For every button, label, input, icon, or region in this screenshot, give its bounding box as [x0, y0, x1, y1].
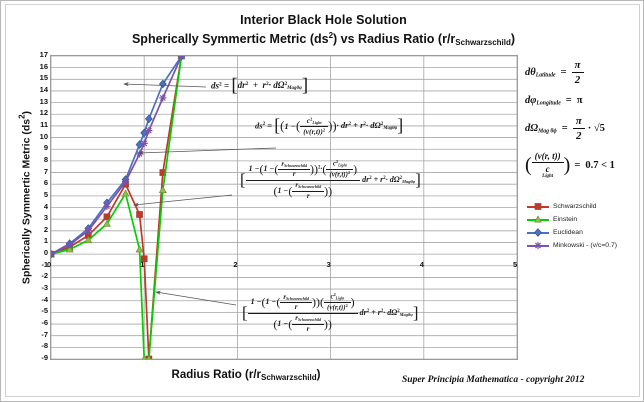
formula-domega-sub: Mag θϕ: [538, 129, 557, 135]
formula-domega-rhs: π 2: [573, 115, 585, 142]
legend-label: Euclidean: [553, 229, 583, 236]
formula-domega: dΩMag θϕ = π 2 · √5: [525, 115, 644, 142]
formula-velocity-ratio: ( (v(r, t)) cLight ) = 0.7 < 1: [525, 151, 644, 179]
chart-title-block: Interior Black Hole Solution Spherically…: [6, 13, 641, 47]
subtitle-part-a: Spherically Symmertic Metric (ds: [132, 32, 329, 46]
y-tick-label: 9: [28, 143, 48, 152]
subtitle-part-c: ): [511, 32, 515, 46]
y-tick-label: 10: [28, 132, 48, 141]
y-tick-label: 0: [28, 248, 48, 257]
eq1-equals: =: [224, 81, 229, 91]
formula-dtheta-lhs: dθLatitude: [525, 67, 556, 78]
formula-domega-num: π: [573, 115, 585, 129]
chart-window: Interior Black Hole Solution Spherically…: [0, 0, 644, 402]
eq1-lhs: ds: [211, 81, 219, 91]
y-tick-label: 6: [28, 178, 48, 187]
y-axis-tick-labels: 17161514131211109876543210-1-2-3-4-5-6-7…: [24, 55, 48, 360]
y-tick-label: -4: [28, 295, 48, 304]
formula-dtheta-num: π: [572, 59, 584, 73]
legend-swatch-icon: [527, 214, 549, 225]
equation-callout-einstein: [ 1 −(1 −(rSchwarzschildr))(c2Light(v(r,…: [242, 293, 418, 333]
y-tick-label: 17: [28, 50, 48, 59]
eq2-equals: =: [267, 120, 272, 130]
page-title: Interior Black Hole Solution: [6, 13, 641, 27]
formula-dphi-lhs: dφLongitude: [525, 95, 561, 106]
formula-domega-tail: · √5: [588, 123, 605, 134]
legend-label: Einstein: [553, 216, 577, 223]
y-tick-label: 3: [28, 213, 48, 222]
x-tick-label: 4: [420, 260, 424, 269]
y-tick-label: 12: [28, 108, 48, 117]
legend-swatch-icon: [527, 201, 549, 212]
formula-velocity-num: (v(r, t)): [532, 151, 564, 163]
x-axis-title-a: Radius Ratio (r/r: [172, 369, 261, 381]
y-tick-label: -9: [28, 353, 48, 362]
formula-dphi: dφLongitude = π: [525, 95, 644, 106]
y-tick-label: -2: [28, 271, 48, 280]
formula-domega-den: 2: [573, 129, 585, 142]
x-axis-title-sub: Schwarzschild: [261, 373, 317, 382]
y-tick-label: 1: [28, 236, 48, 245]
eq2-lhs: ds: [255, 120, 263, 130]
chart-legend: SchwarzschildEinsteinEuclideanMinkowski …: [527, 200, 644, 252]
legend-item-minkowski[interactable]: Minkowski - (v/c=0.7): [527, 239, 644, 252]
formula-dphi-rhs: π: [577, 95, 583, 106]
x-axis-tick-labels: 012345: [50, 260, 518, 272]
legend-item-schwarzschild[interactable]: Schwarzschild: [527, 200, 644, 213]
y-tick-label: 13: [28, 97, 48, 106]
y-tick-label: 4: [28, 202, 48, 211]
y-tick-label: 7: [28, 167, 48, 176]
y-tick-label: 5: [28, 190, 48, 199]
equation-callout-schwarzschild: [ 1 −(1 −(rSchwarzschildr))2·(c2Light(v(…: [240, 160, 421, 200]
formula-dtheta-rhs: π 2: [572, 59, 584, 86]
legend-label: Minkowski - (v/c=0.7): [553, 242, 617, 249]
y-tick-label: 16: [28, 62, 48, 71]
y-tick-label: 14: [28, 85, 48, 94]
formula-dtheta-sub: Latitude: [536, 72, 556, 78]
y-tick-label: -1: [28, 260, 48, 269]
y-tick-label: -8: [28, 341, 48, 350]
y-tick-label: -6: [28, 318, 48, 327]
formula-domega-equals: =: [562, 123, 568, 134]
legend-label: Schwarzschild: [553, 203, 596, 210]
formula-dtheta: dθLatitude = π 2: [525, 59, 644, 86]
y-tick-label: -3: [28, 283, 48, 292]
legend-item-euclidean[interactable]: Euclidean: [527, 226, 644, 239]
legend-item-einstein[interactable]: Einstein: [527, 213, 644, 226]
equation-callout-euclidean: ds2 = [dr2 + r2· dΩ2Magθφ]: [211, 77, 308, 96]
y-tick-label: -7: [28, 330, 48, 339]
x-axis-title: Radius Ratio (r/rSchwarzschild): [96, 369, 396, 382]
formula-domega-lhs: dΩMag θϕ: [525, 123, 557, 134]
equation-callout-minkowski: ds2 = [(1 −(c2Light(v(r,t))2))· dr2 + r2…: [255, 117, 403, 136]
copyright-notice: Super Principia Mathematica - copyright …: [402, 375, 584, 385]
eq1-lhs-sup: 2: [219, 81, 222, 87]
formula-dtheta-den: 2: [572, 73, 584, 86]
x-axis-title-b: ): [317, 369, 321, 381]
subtitle-part-b: ) vs Radius Ratio (r/r: [333, 32, 455, 46]
x-tick-label: 3: [327, 260, 331, 269]
y-tick-label: 15: [28, 73, 48, 82]
formula-velocity-den: cLight: [532, 163, 564, 179]
y-tick-label: 2: [28, 225, 48, 234]
formula-velocity-frac: (v(r, t)) cLight: [532, 151, 564, 179]
y-tick-label: 11: [28, 120, 48, 129]
formula-velocity-den-sub: Light: [535, 174, 561, 179]
side-formula-list: dθLatitude = π 2 dφLongitude = π dΩMag θ…: [525, 59, 644, 188]
formula-dtheta-equals: =: [561, 67, 567, 78]
legend-swatch-icon: [527, 227, 549, 238]
formula-velocity-equals: =: [574, 160, 580, 171]
eq2-lhs-sup: 2: [263, 121, 266, 127]
chart-canvas: Interior Black Hole Solution Spherically…: [5, 4, 640, 397]
y-tick-label: -5: [28, 306, 48, 315]
formula-velocity-rhs: 0.7 < 1: [585, 160, 615, 171]
legend-swatch-icon: [527, 240, 549, 251]
formula-dphi-sub: Longitude: [536, 100, 560, 106]
x-tick-label: 2: [233, 260, 237, 269]
x-tick-label: 1: [140, 260, 144, 269]
x-tick-label: 5: [513, 260, 517, 269]
formula-dphi-equals: =: [566, 95, 572, 106]
chart-subtitle: Spherically Symmertic Metric (ds2) vs Ra…: [6, 31, 641, 47]
subtitle-subscript: Schwarzschild: [455, 38, 511, 47]
y-tick-label: 8: [28, 155, 48, 164]
x-tick-label: 0: [47, 260, 51, 269]
